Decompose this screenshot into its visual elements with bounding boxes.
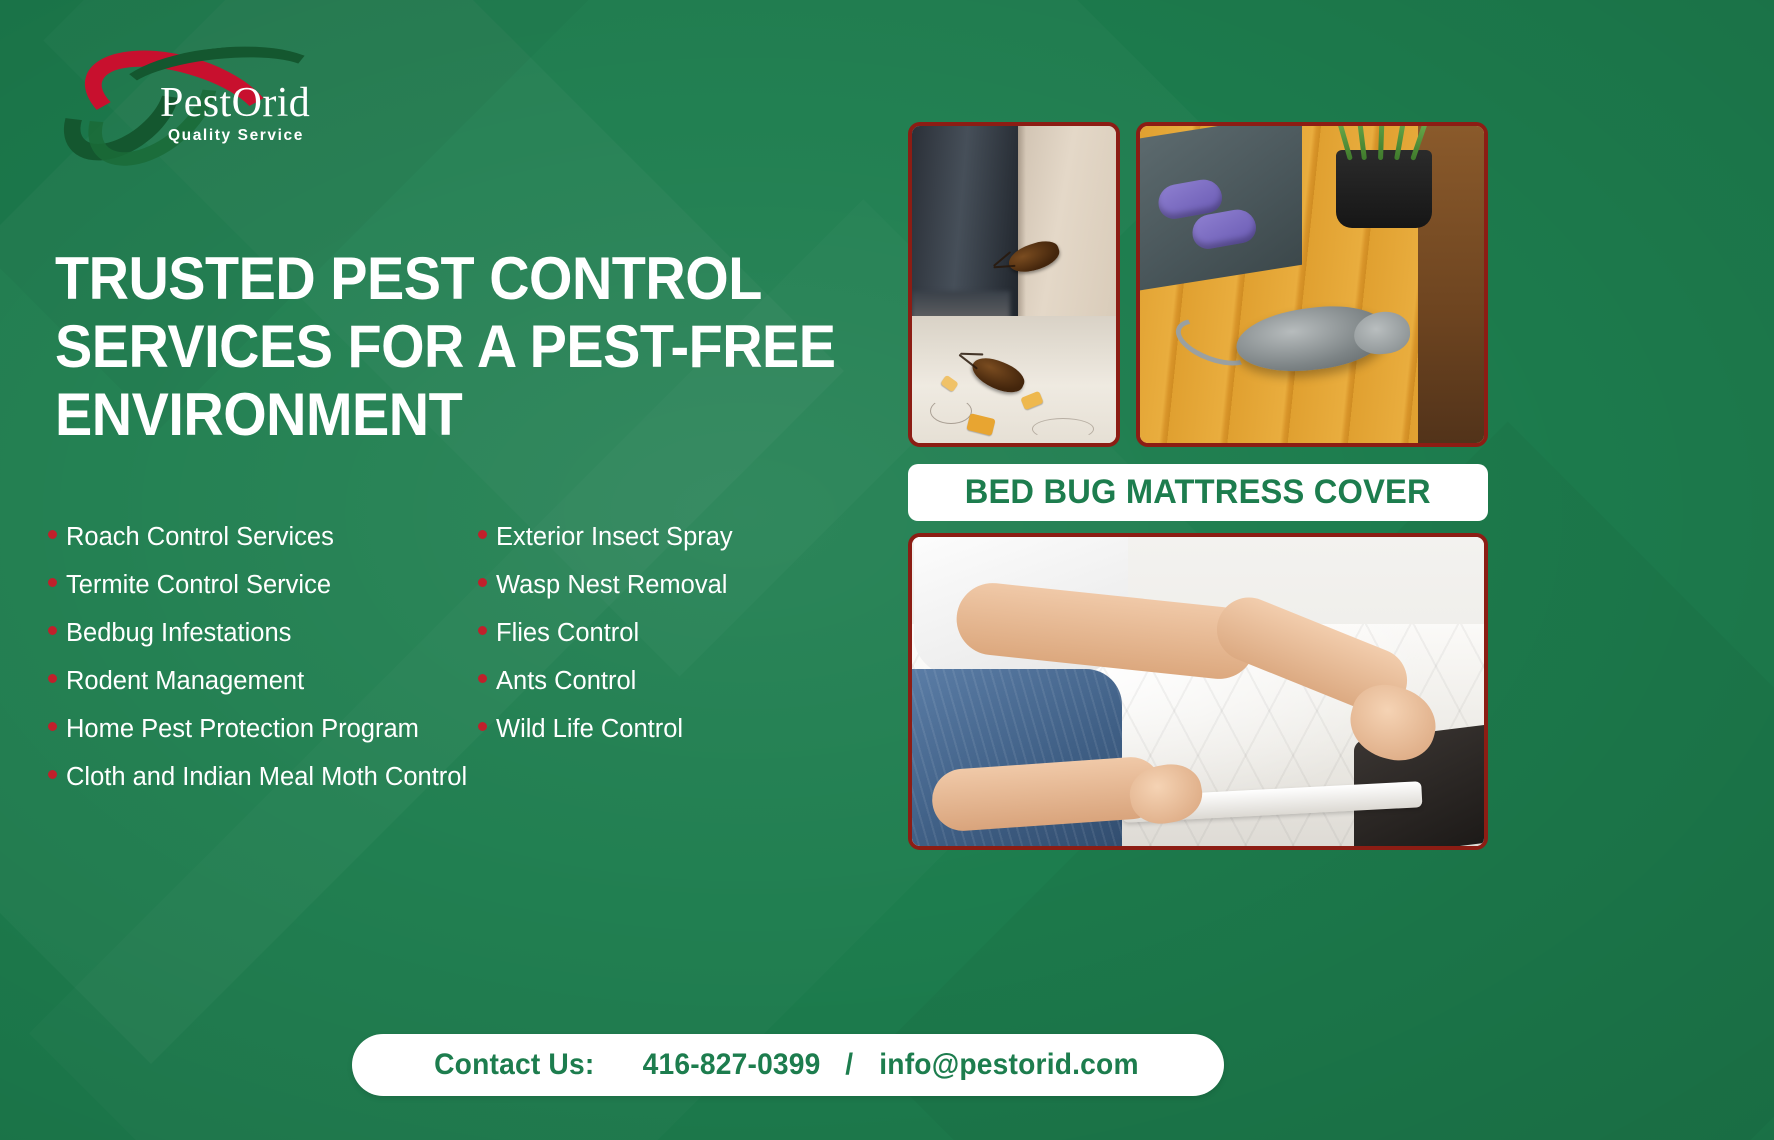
service-label: Roach Control Services [66, 525, 334, 551]
list-item: Wasp Nest Removal [478, 573, 878, 599]
phone-number[interactable]: 416-827-0399 [643, 1048, 821, 1082]
email-address[interactable]: info@pestorid.com [879, 1048, 1138, 1082]
bed-bug-mattress-cover-banner: BED BUG MATTRESS COVER [908, 464, 1488, 521]
service-label: Flies Control [496, 621, 639, 647]
company-logo: PestOrid Quality Service [52, 44, 352, 154]
services-list: Roach Control Services Termite Control S… [48, 525, 878, 825]
list-item: Ants Control [478, 669, 878, 695]
list-item: Rodent Management [48, 669, 518, 695]
plant-art [1340, 122, 1436, 160]
contact-separator: / [845, 1048, 853, 1082]
service-label: Ants Control [496, 669, 636, 695]
mattress-photo-art [912, 537, 1484, 846]
banner-label: BED BUG MATTRESS COVER [965, 473, 1431, 512]
service-label: Wasp Nest Removal [496, 573, 727, 599]
service-label: Termite Control Service [66, 573, 331, 599]
cockroach-photo [908, 122, 1120, 447]
list-item: Termite Control Service [48, 573, 518, 599]
rat-photo-art [1140, 126, 1484, 443]
plant-pot-art [1336, 150, 1432, 228]
contact-label: Contact Us: [434, 1048, 594, 1082]
bullet-dot-icon [478, 626, 487, 635]
bullet-dot-icon [48, 578, 57, 587]
rat-photo [1136, 122, 1488, 447]
list-item: Exterior Insect Spray [478, 525, 878, 551]
bullet-dot-icon [48, 674, 57, 683]
headline: TRUSTED PEST CONTROL SERVICES FOR A PEST… [55, 245, 855, 448]
logo-wordmark: PestOrid Quality Service [160, 82, 350, 145]
bullet-dot-icon [48, 770, 57, 779]
list-item: Cloth and Indian Meal Moth Control [48, 765, 518, 791]
hair-debris-art [1032, 418, 1094, 440]
service-label: Rodent Management [66, 669, 304, 695]
hair-debris-art [930, 398, 972, 424]
poster-canvas: PestOrid Quality Service TRUSTED PEST CO… [0, 0, 1774, 1140]
bullet-dot-icon [48, 530, 57, 539]
logo-name: PestOrid [160, 82, 350, 124]
bullet-dot-icon [478, 578, 487, 587]
service-label: Cloth and Indian Meal Moth Control [66, 765, 467, 791]
bullet-dot-icon [478, 674, 487, 683]
mattress-photo [908, 533, 1488, 850]
bullet-dot-icon [48, 722, 57, 731]
service-label: Wild Life Control [496, 717, 683, 743]
bullet-dot-icon [48, 626, 57, 635]
logo-tagline: Quality Service [160, 127, 312, 145]
list-item: Flies Control [478, 621, 878, 647]
cockroach-photo-art [912, 126, 1116, 443]
service-label: Exterior Insect Spray [496, 525, 733, 551]
list-item: Home Pest Protection Program [48, 717, 518, 743]
service-label: Home Pest Protection Program [66, 717, 419, 743]
service-label: Bedbug Infestations [66, 621, 291, 647]
contact-bar: Contact Us: 416-827-0399 / info@pestorid… [352, 1034, 1224, 1096]
bullet-dot-icon [478, 530, 487, 539]
services-right-column: Exterior Insect Spray Wasp Nest Removal … [478, 525, 878, 765]
contact-details: 416-827-0399 / info@pestorid.com [637, 1048, 1147, 1082]
list-item: Roach Control Services [48, 525, 518, 551]
services-left-column: Roach Control Services Termite Control S… [48, 525, 518, 813]
list-item: Bedbug Infestations [48, 621, 518, 647]
list-item: Wild Life Control [478, 717, 878, 743]
bullet-dot-icon [478, 722, 487, 731]
